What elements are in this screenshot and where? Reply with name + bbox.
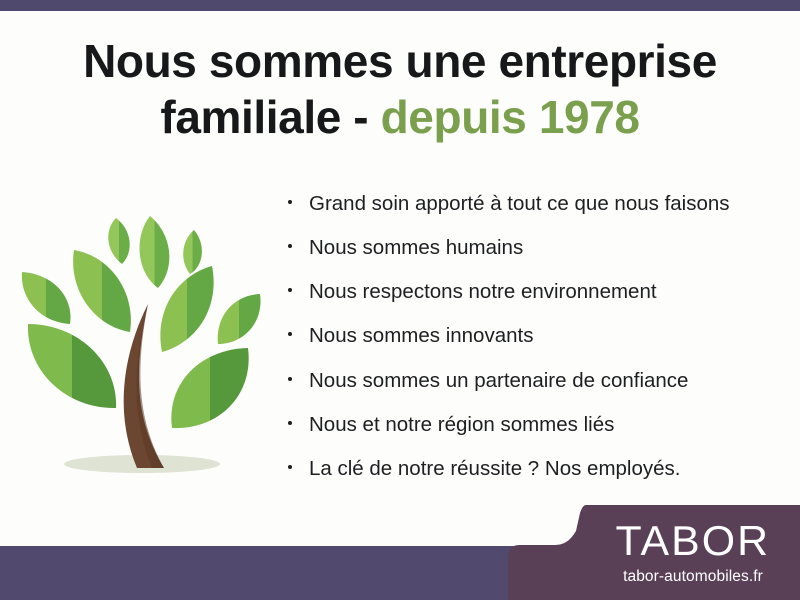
top-accent-band <box>0 0 800 11</box>
title-line-1: Nous sommes une entreprise <box>83 35 717 87</box>
bullet-list: Grand soin apporté à tout ce que nous fa… <box>284 191 784 500</box>
logo-tagline: tabor-automobiles.fr <box>623 569 763 585</box>
list-item: Nous et notre région sommes liés <box>284 412 784 438</box>
list-item: La clé de notre réussite ? Nos employés. <box>284 456 784 482</box>
title-line-2-plain: familiale - <box>160 91 368 143</box>
leaf-upper-right-small <box>183 230 202 274</box>
leaf-upper-left-small <box>108 218 129 264</box>
list-item-label: Nous sommes humains <box>309 236 523 259</box>
list-item: Grand soin apporté à tout ce que nous fa… <box>284 191 784 217</box>
list-item: Nous sommes un partenaire de confiance <box>284 368 784 394</box>
leaf-top-center <box>140 216 170 288</box>
list-item: Nous respectons notre environnement <box>284 279 784 305</box>
bullet-dot-icon <box>288 288 292 292</box>
list-item-label: La clé de notre réussite ? Nos employés. <box>309 457 680 480</box>
logo-wordmark: TABOR <box>616 520 771 562</box>
list-item-label: Nous sommes innovants <box>309 324 533 347</box>
list-item: Nous sommes innovants <box>284 323 784 349</box>
page-title: Nous sommes une entreprise familiale - d… <box>0 33 800 145</box>
leaf-lower-left <box>28 324 116 408</box>
list-item-label: Grand soin apporté à tout ce que nous fa… <box>309 192 730 215</box>
bullet-dot-icon <box>288 465 292 469</box>
tree-illustration <box>12 182 280 492</box>
leaf-far-left <box>22 272 71 324</box>
bullet-dot-icon <box>288 377 292 381</box>
title-line-2-accent: depuis 1978 <box>381 91 640 143</box>
list-item-label: Nous respectons notre environnement <box>309 280 657 303</box>
leaf-right-upper <box>160 266 213 352</box>
bullet-dot-icon <box>288 244 292 248</box>
leaf-far-right <box>218 294 261 344</box>
leaf-lower-right <box>171 348 248 428</box>
list-item-label: Nous sommes un partenaire de confiance <box>309 369 688 392</box>
list-item-label: Nous et notre région sommes liés <box>309 413 614 436</box>
bullet-dot-icon <box>288 200 292 204</box>
brand-logo-panel[interactable]: TABOR tabor-automobiles.fr <box>508 505 800 600</box>
list-item: Nous sommes humains <box>284 235 784 261</box>
slide-canvas: Nous sommes une entreprise familiale - d… <box>0 0 800 600</box>
bullet-dot-icon <box>288 332 292 336</box>
bullet-dot-icon <box>288 421 292 425</box>
